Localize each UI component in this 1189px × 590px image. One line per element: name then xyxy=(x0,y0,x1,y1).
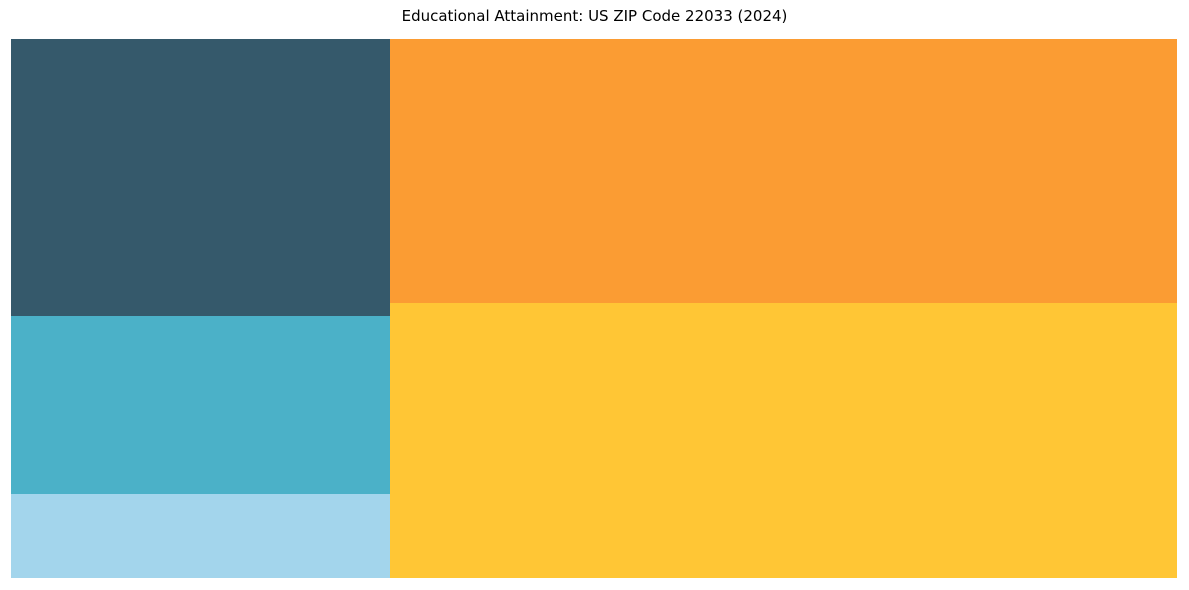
treemap-tile[interactable] xyxy=(11,316,390,494)
treemap-tile[interactable] xyxy=(11,494,390,578)
treemap-tile[interactable] xyxy=(11,39,390,316)
treemap-figure: Educational Attainment: US ZIP Code 2203… xyxy=(0,0,1189,590)
treemap-tile[interactable] xyxy=(390,39,1177,303)
treemap-plot-area xyxy=(11,39,1177,578)
treemap-tile[interactable] xyxy=(390,303,1177,578)
chart-title: Educational Attainment: US ZIP Code 2203… xyxy=(0,7,1189,25)
